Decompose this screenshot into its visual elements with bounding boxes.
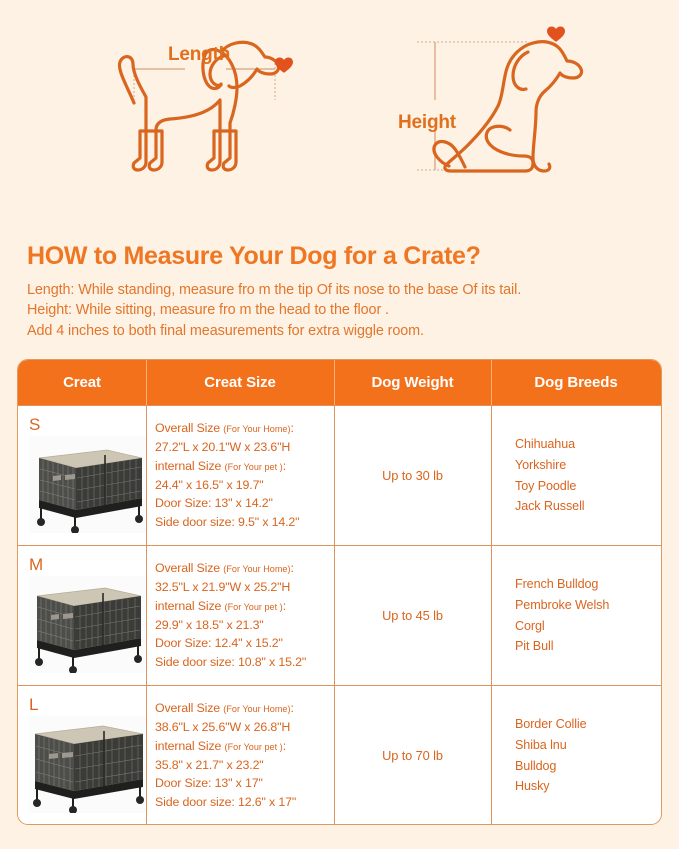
internal-size-label: internal Size bbox=[155, 599, 221, 613]
door-size: Door Size: 13" x 14.2" bbox=[155, 496, 273, 510]
dog-breeds-list: Border Collie Shiba lnu Bulldog Husky bbox=[515, 714, 587, 796]
table-header-row: Creat Creat Size Dog Weight Dog Breeds bbox=[18, 360, 661, 405]
size-letter: S bbox=[29, 416, 40, 433]
table-row: L bbox=[18, 685, 661, 825]
dog-breeds-list: Chihuahua Yorkshire Toy Poodle Jack Russ… bbox=[515, 434, 585, 516]
dog-weight-value: Up to 30 lb bbox=[382, 468, 443, 483]
column-header-dog-breeds: Dog Breeds bbox=[491, 360, 661, 405]
overall-size-label: Overall Size bbox=[155, 701, 220, 715]
crate-specs-cell: Overall Size (For Your Home): 38.6"L x 2… bbox=[146, 686, 334, 825]
page-title: HOW to Measure Your Dog for a Crate? bbox=[27, 242, 657, 271]
dog-crate-medium-image bbox=[29, 576, 147, 673]
height-illustration: Height bbox=[385, 0, 675, 228]
internal-size-value: 35.8" x 21.7" x 23.2" bbox=[155, 758, 264, 772]
instruction-line-wiggle: Add 4 inches to both final measurements … bbox=[27, 321, 657, 342]
internal-size-value: 24.4" x 16.5" x 19.7" bbox=[155, 478, 264, 492]
internal-size-label: internal Size bbox=[155, 739, 221, 753]
breed-item: Chihuahua bbox=[515, 434, 585, 455]
length-illustration: Length bbox=[100, 0, 400, 228]
breed-item: Toy Poodle bbox=[515, 476, 585, 497]
breed-item: Border Collie bbox=[515, 714, 587, 735]
dog-weight-value: Up to 45 lb bbox=[382, 608, 443, 623]
dog-crate-small-image bbox=[29, 436, 147, 533]
overall-size-value: 27.2"L x 20.1"W x 23.6"H bbox=[155, 440, 290, 454]
breed-item: Pembroke Welsh bbox=[515, 595, 609, 616]
crate-size-cell: M bbox=[18, 546, 146, 685]
instruction-line-height: Height: While sitting, measure fro m the… bbox=[27, 300, 657, 321]
dog-breeds-cell: French Bulldog Pembroke Welsh Corgl Pit … bbox=[491, 546, 661, 685]
internal-size-note: (For Your pet ) bbox=[225, 602, 283, 612]
breed-item: French Bulldog bbox=[515, 574, 609, 595]
crate-size-cell: S bbox=[18, 406, 146, 545]
size-letter: M bbox=[29, 556, 43, 573]
overall-size-label: Overall Size bbox=[155, 421, 220, 435]
dog-weight-value: Up to 70 lb bbox=[382, 748, 443, 763]
dog-breeds-cell: Border Collie Shiba lnu Bulldog Husky bbox=[491, 686, 661, 825]
illustration-band: Length Height bbox=[0, 0, 679, 228]
column-header-creat-size: Creat Size bbox=[146, 360, 334, 405]
breed-item: Corgl bbox=[515, 616, 609, 637]
instruction-line-length: Length: While standing, measure fro m th… bbox=[27, 280, 657, 301]
overall-size-note: (For Your Home) bbox=[223, 564, 290, 574]
overall-size-note: (For Your Home) bbox=[223, 424, 290, 434]
crate-size-cell: L bbox=[18, 686, 146, 825]
column-header-dog-weight: Dog Weight bbox=[334, 360, 491, 405]
internal-size-note: (For Your pet ) bbox=[225, 742, 283, 752]
breed-item: Jack Russell bbox=[515, 496, 585, 517]
overall-size-value: 38.6"L x 25.6"W x 26.8"H bbox=[155, 720, 290, 734]
overall-size-label: Overall Size bbox=[155, 561, 220, 575]
door-size: Door Size: 13" x 17" bbox=[155, 776, 263, 790]
length-label: Length bbox=[168, 44, 230, 66]
crate-specs: Overall Size (For Your Home): 27.2"L x 2… bbox=[155, 419, 299, 532]
heading-block: HOW to Measure Your Dog for a Crate? Len… bbox=[27, 242, 657, 342]
breed-item: Yorkshire bbox=[515, 455, 585, 476]
column-header-creat: Creat bbox=[18, 360, 146, 405]
height-label: Height bbox=[398, 112, 456, 134]
overall-size-value: 32.5"L x 21.9"W x 25.2"H bbox=[155, 580, 290, 594]
breed-item: Shiba lnu bbox=[515, 735, 587, 756]
side-door-size: Side door size: 9.5" x 14.2" bbox=[155, 515, 299, 529]
side-door-size: Side door size: 12.6" x 17" bbox=[155, 795, 296, 809]
breed-item: Husky bbox=[515, 776, 587, 797]
dog-breeds-list: French Bulldog Pembroke Welsh Corgl Pit … bbox=[515, 574, 609, 656]
breed-item: Bulldog bbox=[515, 756, 587, 777]
crate-specs-cell: Overall Size (For Your Home): 32.5"L x 2… bbox=[146, 546, 334, 685]
crate-specs: Overall Size (For Your Home): 32.5"L x 2… bbox=[155, 559, 306, 672]
internal-size-note: (For Your pet ) bbox=[225, 462, 283, 472]
breed-item: Pit Bull bbox=[515, 636, 609, 657]
heart-icon bbox=[547, 26, 565, 41]
crate-size-table: Creat Creat Size Dog Weight Dog Breeds S bbox=[17, 359, 662, 825]
dog-breeds-cell: Chihuahua Yorkshire Toy Poodle Jack Russ… bbox=[491, 406, 661, 545]
table-row: S bbox=[18, 405, 661, 545]
infographic-page: Length Height bbox=[0, 0, 679, 849]
crate-specs: Overall Size (For Your Home): 38.6"L x 2… bbox=[155, 699, 296, 812]
dog-standing-outline-icon bbox=[100, 0, 400, 228]
side-door-size: Side door size: 10.8" x 15.2" bbox=[155, 655, 306, 669]
crate-specs-cell: Overall Size (For Your Home): 27.2"L x 2… bbox=[146, 406, 334, 545]
internal-size-label: internal Size bbox=[155, 459, 221, 473]
dog-weight-cell: Up to 70 lb bbox=[334, 686, 491, 825]
size-letter: L bbox=[29, 696, 38, 713]
overall-size-note: (For Your Home) bbox=[223, 704, 290, 714]
dog-weight-cell: Up to 30 lb bbox=[334, 406, 491, 545]
internal-size-value: 29.9" x 18.5" x 21.3" bbox=[155, 618, 264, 632]
dog-weight-cell: Up to 45 lb bbox=[334, 546, 491, 685]
dog-crate-large-image bbox=[29, 716, 147, 813]
door-size: Door Size: 12.4" x 15.2" bbox=[155, 636, 283, 650]
table-row: M bbox=[18, 545, 661, 685]
